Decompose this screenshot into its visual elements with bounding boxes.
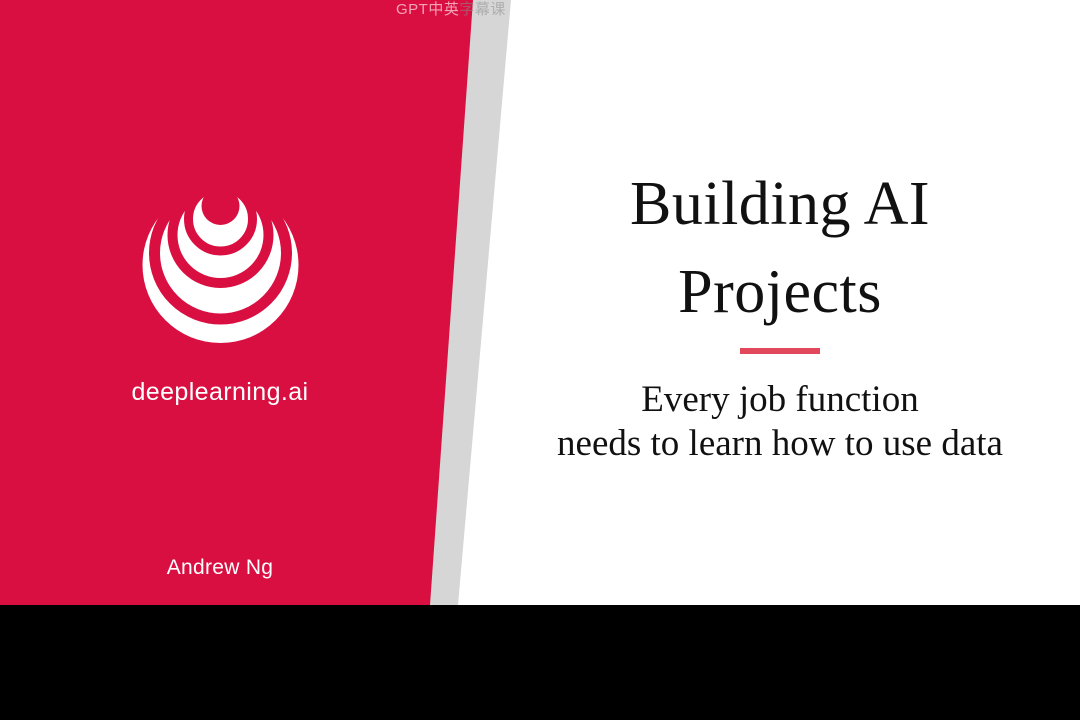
- slide-title-line-1: Building AI: [530, 160, 1030, 248]
- slide-subtitle-line-1: Every job function: [500, 378, 1060, 422]
- deeplearning-ai-logo-icon: [121, 187, 320, 343]
- slide-stage: deeplearning.ai Andrew Ng Building AI Pr…: [0, 0, 1080, 605]
- slide-subtitle-line-2: needs to learn how to use data: [500, 422, 1060, 466]
- slide-title: Building AI Projects: [530, 160, 1030, 336]
- title-divider-rule: [740, 348, 820, 354]
- content-column: Building AI Projects Every job function …: [530, 0, 1030, 605]
- brand-name-label: deeplearning.ai: [0, 378, 440, 407]
- video-frame: deeplearning.ai Andrew Ng Building AI Pr…: [0, 0, 1080, 720]
- slide-subtitle: Every job function needs to learn how to…: [500, 378, 1060, 466]
- brand-column: deeplearning.ai Andrew Ng: [0, 0, 440, 605]
- letterbox-bottom-bar: [0, 605, 1080, 720]
- slide-title-line-2: Projects: [530, 248, 1030, 336]
- presenter-name-label: Andrew Ng: [0, 556, 440, 580]
